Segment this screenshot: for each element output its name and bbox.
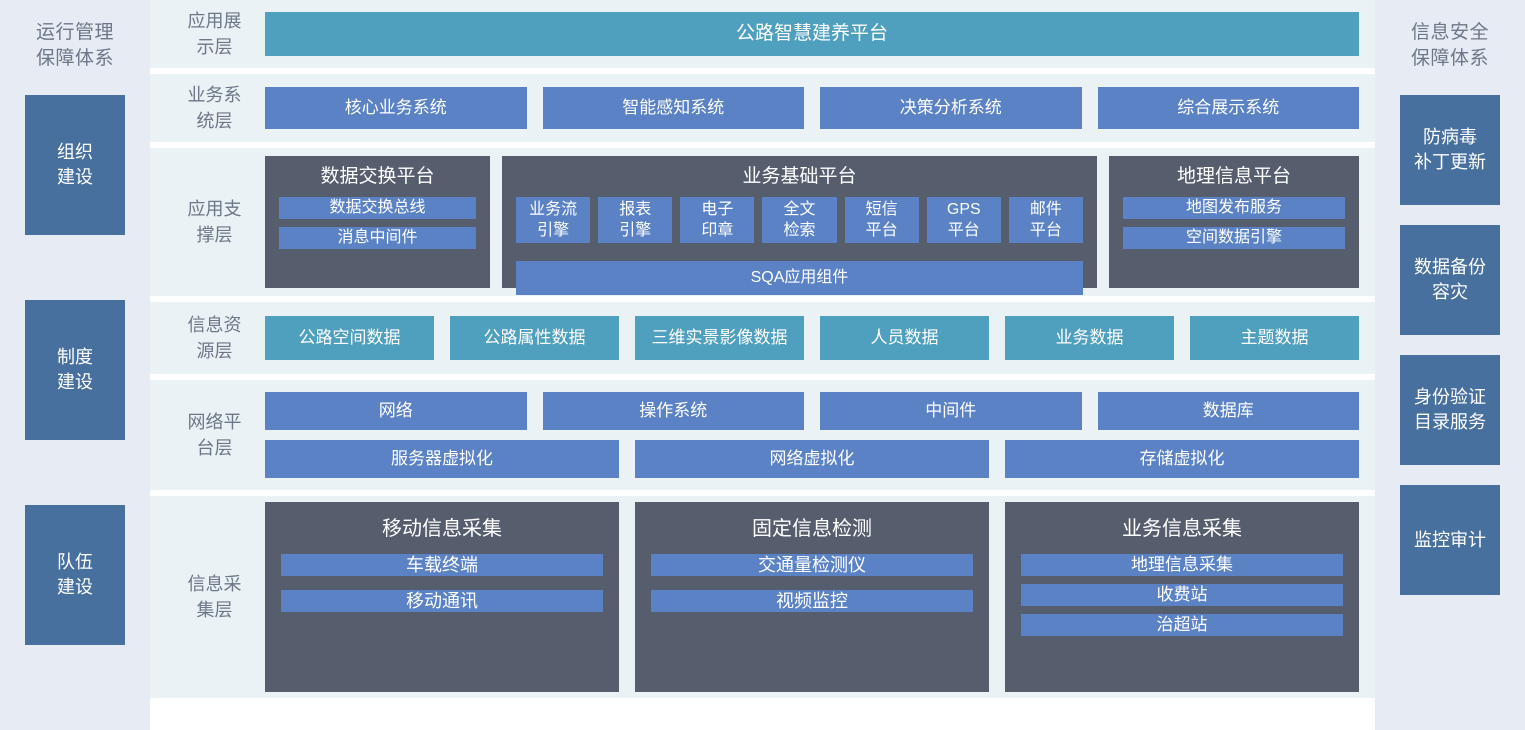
right-chip-antivirus-patch-update[interactable]: 防病毒 补丁更新 — [1400, 95, 1500, 205]
chip-smart-highway-platform[interactable]: 公路智慧建养平台 — [265, 12, 1359, 56]
layer-body-network-platform: 网络 操作系统 中间件 数据库 服务器虚拟化 网络虚拟化 存储虚拟化 — [265, 380, 1375, 490]
chip-video-surveillance[interactable]: 视频监控 — [651, 590, 973, 612]
left-chip-institution[interactable]: 制度 建设 — [25, 300, 125, 440]
application-support-row: 数据交换平台 数据交换总线 消息中间件 业务基础平台 业务流 引擎 报表 引擎 — [265, 156, 1359, 288]
chip-gps-platform[interactable]: GPS 平台 — [927, 197, 1001, 243]
layer-information-collection: 信息采 集层 移动信息采集 车载终端 移动通讯 固定信息检测 交通量检测仪 — [150, 496, 1375, 698]
chip-mail-platform[interactable]: 邮件 平台 — [1009, 197, 1083, 243]
panel-business-information-collection: 业务信息采集 地理信息采集 收费站 治超站 — [1005, 502, 1359, 692]
panel-data-exchange-platform: 数据交换平台 数据交换总线 消息中间件 — [265, 156, 490, 288]
architecture-diagram: 运行管理 保障体系 组织 建设 制度 建设 队伍 建设 应用展 示层 公路智慧建… — [0, 0, 1525, 730]
business-base-engine-row: 业务流 引擎 报表 引擎 电子 印章 全文 检索 短信 平台 GPS 平台 邮件… — [516, 197, 1083, 243]
layer-label-business-system: 业务系 统层 — [150, 74, 265, 142]
layer-body-information-collection: 移动信息采集 车载终端 移动通讯 固定信息检测 交通量检测仪 视频监控 — [265, 496, 1375, 698]
chip-data-exchange-bus[interactable]: 数据交换总线 — [279, 197, 476, 219]
left-system-title: 运行管理 保障体系 — [36, 0, 114, 95]
chip-network[interactable]: 网络 — [265, 392, 527, 430]
chip-integrated-display-system[interactable]: 综合展示系统 — [1098, 87, 1360, 129]
panel-rows-business-collection: 地理信息采集 收费站 治超站 — [1021, 554, 1343, 636]
network-platform-row-2: 服务器虚拟化 网络虚拟化 存储虚拟化 — [265, 440, 1359, 478]
chip-spatial-data-engine[interactable]: 空间数据引擎 — [1123, 227, 1345, 249]
left-guarantee-system-column: 运行管理 保障体系 组织 建设 制度 建设 队伍 建设 — [0, 0, 150, 730]
information-resource-row: 公路空间数据 公路属性数据 三维实景影像数据 人员数据 业务数据 主题数据 — [265, 316, 1359, 360]
chip-3d-reality-image-data[interactable]: 三维实景影像数据 — [635, 316, 804, 360]
chip-highway-attribute-data[interactable]: 公路属性数据 — [450, 316, 619, 360]
business-system-row: 核心业务系统 智能感知系统 决策分析系统 综合展示系统 — [265, 87, 1359, 129]
chip-decision-analysis-system[interactable]: 决策分析系统 — [820, 87, 1082, 129]
panel-title-business-base: 业务基础平台 — [516, 164, 1083, 190]
chip-message-middleware[interactable]: 消息中间件 — [279, 227, 476, 249]
chip-mobile-communication[interactable]: 移动通讯 — [281, 590, 603, 612]
left-system-chip-list: 组织 建设 制度 建设 队伍 建设 — [0, 95, 150, 730]
layer-business-system: 业务系 统层 核心业务系统 智能感知系统 决策分析系统 综合展示系统 — [150, 74, 1375, 142]
network-platform-row-1: 网络 操作系统 中间件 数据库 — [265, 392, 1359, 430]
panel-fixed-information-detection: 固定信息检测 交通量检测仪 视频监控 — [635, 502, 989, 692]
chip-storage-virtualization[interactable]: 存储虚拟化 — [1005, 440, 1359, 478]
chip-fulltext-search[interactable]: 全文 检索 — [762, 197, 836, 243]
layer-label-presentation: 应用展 示层 — [150, 0, 265, 68]
layer-body-business-system: 核心业务系统 智能感知系统 决策分析系统 综合展示系统 — [265, 74, 1375, 142]
chip-sqa-application-component[interactable]: SQA应用组件 — [516, 261, 1083, 295]
layer-label-network-platform: 网络平 台层 — [150, 380, 265, 490]
chip-core-business-system[interactable]: 核心业务系统 — [265, 87, 527, 129]
right-security-system-column: 信息安全 保障体系 防病毒 补丁更新 数据备份 容灾 身份验证 目录服务 监控审… — [1375, 0, 1525, 730]
layer-body-information-resource: 公路空间数据 公路属性数据 三维实景影像数据 人员数据 业务数据 主题数据 — [265, 302, 1375, 374]
chip-vehicle-terminal[interactable]: 车载终端 — [281, 554, 603, 576]
right-chip-data-backup-disaster-recovery[interactable]: 数据备份 容灾 — [1400, 225, 1500, 335]
layer-stack: 应用展 示层 公路智慧建养平台 业务系 统层 核心业务系统 智能感知系统 决策分… — [150, 0, 1375, 730]
layer-label-information-resource: 信息资 源层 — [150, 302, 265, 374]
layer-application-support: 应用支 撑层 数据交换平台 数据交换总线 消息中间件 业务基础平台 — [150, 148, 1375, 296]
information-collection-row: 移动信息采集 车载终端 移动通讯 固定信息检测 交通量检测仪 视频监控 — [265, 502, 1359, 692]
panel-rows-fixed-detection: 交通量检测仪 视频监控 — [651, 554, 973, 612]
panel-gis-platform: 地理信息平台 地图发布服务 空间数据引擎 — [1109, 156, 1359, 288]
chip-overload-control-station[interactable]: 治超站 — [1021, 614, 1343, 636]
chip-business-data[interactable]: 业务数据 — [1005, 316, 1174, 360]
panel-mobile-information-collection: 移动信息采集 车载终端 移动通讯 — [265, 502, 619, 692]
chip-middleware[interactable]: 中间件 — [820, 392, 1082, 430]
chip-personnel-data[interactable]: 人员数据 — [820, 316, 989, 360]
chip-report-engine[interactable]: 报表 引擎 — [598, 197, 672, 243]
panel-rows-gis: 地图发布服务 空间数据引擎 — [1123, 197, 1345, 249]
left-chip-team[interactable]: 队伍 建设 — [25, 505, 125, 645]
panel-title-data-exchange: 数据交换平台 — [279, 164, 476, 190]
layer-label-information-collection: 信息采 集层 — [150, 496, 265, 698]
presentation-row: 公路智慧建养平台 — [265, 12, 1359, 56]
chip-geographic-information-collection[interactable]: 地理信息采集 — [1021, 554, 1343, 576]
chip-server-virtualization[interactable]: 服务器虚拟化 — [265, 440, 619, 478]
layer-body-presentation: 公路智慧建养平台 — [265, 0, 1375, 68]
panel-rows-data-exchange: 数据交换总线 消息中间件 — [279, 197, 476, 249]
chip-sms-platform[interactable]: 短信 平台 — [845, 197, 919, 243]
chip-highway-spatial-data[interactable]: 公路空间数据 — [265, 316, 434, 360]
right-chip-identity-authentication-directory-service[interactable]: 身份验证 目录服务 — [1400, 355, 1500, 465]
chip-toll-station[interactable]: 收费站 — [1021, 584, 1343, 606]
layer-body-application-support: 数据交换平台 数据交换总线 消息中间件 业务基础平台 业务流 引擎 报表 引擎 — [265, 148, 1375, 296]
panel-title-business-collection: 业务信息采集 — [1021, 516, 1343, 542]
panel-rows-business-base: 业务流 引擎 报表 引擎 电子 印章 全文 检索 短信 平台 GPS 平台 邮件… — [516, 197, 1083, 295]
panel-title-mobile-collection: 移动信息采集 — [281, 516, 603, 542]
panel-title-fixed-detection: 固定信息检测 — [651, 516, 973, 542]
chip-traffic-volume-detector[interactable]: 交通量检测仪 — [651, 554, 973, 576]
business-base-sqa-row: SQA应用组件 — [516, 261, 1083, 295]
panel-title-gis: 地理信息平台 — [1123, 164, 1345, 190]
layer-network-platform: 网络平 台层 网络 操作系统 中间件 数据库 服务器虚拟化 网络虚拟化 存储虚拟… — [150, 380, 1375, 490]
chip-subject-data[interactable]: 主题数据 — [1190, 316, 1359, 360]
chip-map-publishing-service[interactable]: 地图发布服务 — [1123, 197, 1345, 219]
chip-electronic-seal[interactable]: 电子 印章 — [680, 197, 754, 243]
panel-rows-mobile-collection: 车载终端 移动通讯 — [281, 554, 603, 612]
chip-network-virtualization[interactable]: 网络虚拟化 — [635, 440, 989, 478]
right-system-title: 信息安全 保障体系 — [1411, 0, 1489, 95]
panel-business-base-platform: 业务基础平台 业务流 引擎 报表 引擎 电子 印章 全文 检索 短信 平台 GP… — [502, 156, 1097, 288]
layer-label-application-support: 应用支 撑层 — [150, 148, 265, 296]
layer-presentation: 应用展 示层 公路智慧建养平台 — [150, 0, 1375, 68]
chip-operating-system[interactable]: 操作系统 — [543, 392, 805, 430]
layer-information-resource: 信息资 源层 公路空间数据 公路属性数据 三维实景影像数据 人员数据 业务数据 … — [150, 302, 1375, 374]
chip-workflow-engine[interactable]: 业务流 引擎 — [516, 197, 590, 243]
right-system-chip-list: 防病毒 补丁更新 数据备份 容灾 身份验证 目录服务 监控审计 — [1375, 95, 1525, 730]
left-chip-organization[interactable]: 组织 建设 — [25, 95, 125, 235]
chip-database[interactable]: 数据库 — [1098, 392, 1360, 430]
chip-intelligent-sensing-system[interactable]: 智能感知系统 — [543, 87, 805, 129]
right-chip-monitoring-audit[interactable]: 监控审计 — [1400, 485, 1500, 595]
